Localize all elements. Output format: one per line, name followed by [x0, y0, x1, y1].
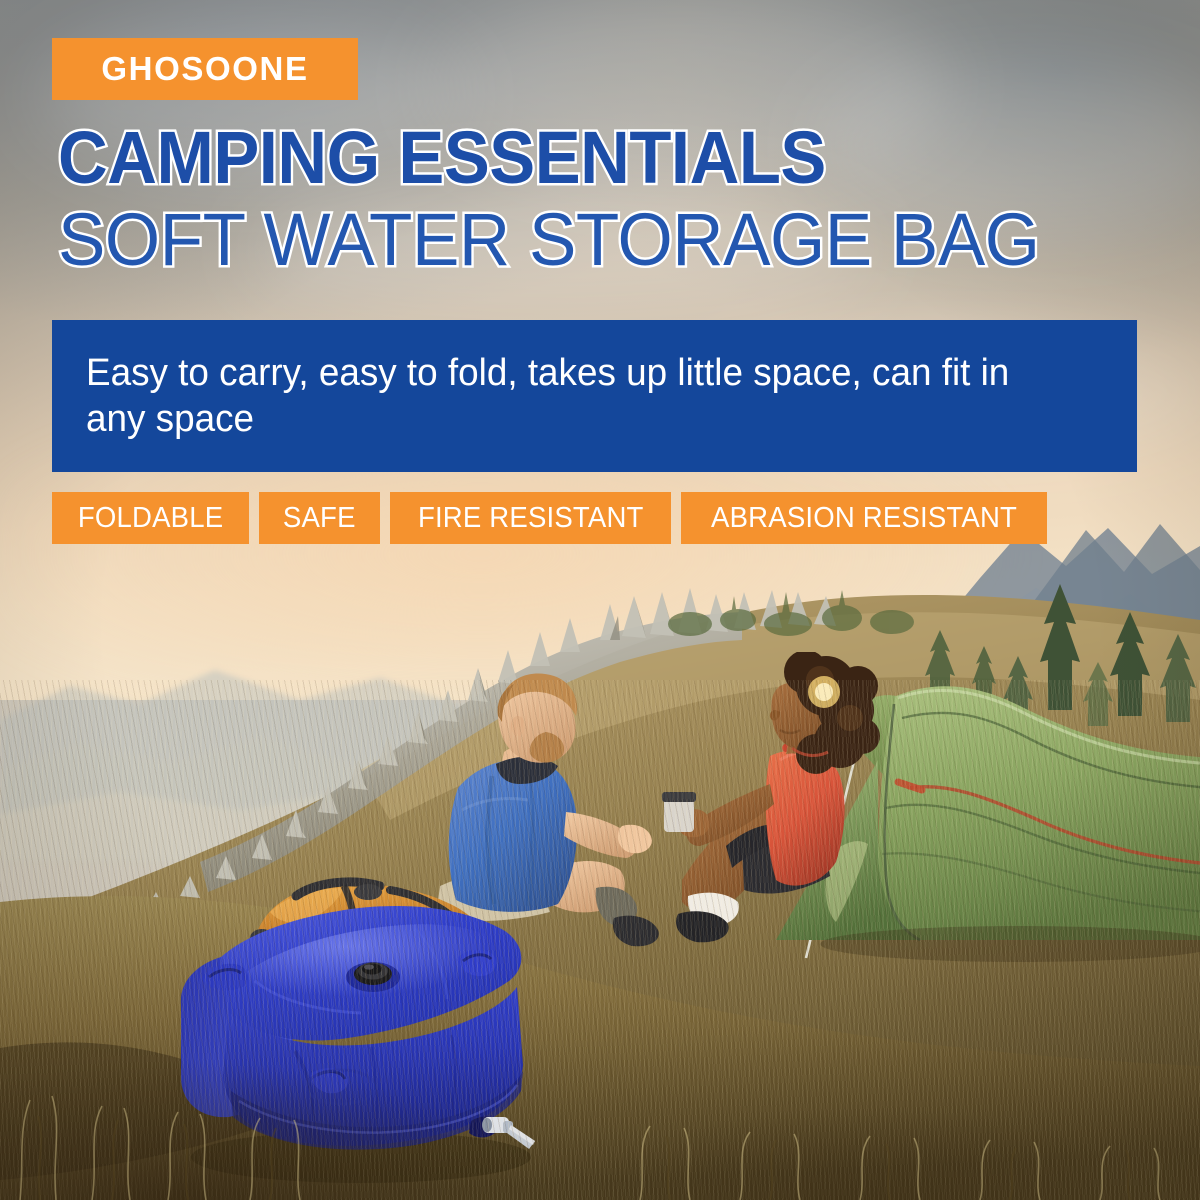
feature-tag-label: SAFE	[283, 502, 356, 535]
feature-tag-safe: SAFE	[259, 492, 380, 544]
ridge-shrubs	[660, 566, 920, 636]
foreground-grass-blades	[0, 960, 1200, 1200]
feature-tag-label: FIRE RESISTANT	[418, 502, 644, 535]
description-text: Easy to carry, easy to fold, takes up li…	[86, 350, 1072, 443]
feature-tag-label: FOLDABLE	[78, 502, 223, 535]
feature-tag-fire-resistant: FIRE RESISTANT	[390, 492, 672, 544]
feature-tag-label: ABRASION RESISTANT	[711, 502, 1017, 535]
feature-tag-foldable: FOLDABLE	[52, 492, 249, 544]
brand-badge: GHOSOONE	[52, 38, 358, 100]
feature-tag-abrasion-resistant: ABRASION RESISTANT	[681, 492, 1047, 544]
product-banner: GHOSOONE CAMPING ESSENTIALS SOFT WATER S…	[0, 0, 1200, 1200]
brand-name: GHOSOONE	[101, 50, 308, 88]
headline-secondary: SOFT WATER STORAGE BAG	[58, 204, 1162, 275]
feature-tag-row: FOLDABLE SAFE FIRE RESISTANT ABRASION RE…	[52, 492, 1047, 544]
description-banner: Easy to carry, easy to fold, takes up li…	[52, 320, 1137, 472]
headline-primary: CAMPING ESSENTIALS	[58, 122, 1081, 193]
